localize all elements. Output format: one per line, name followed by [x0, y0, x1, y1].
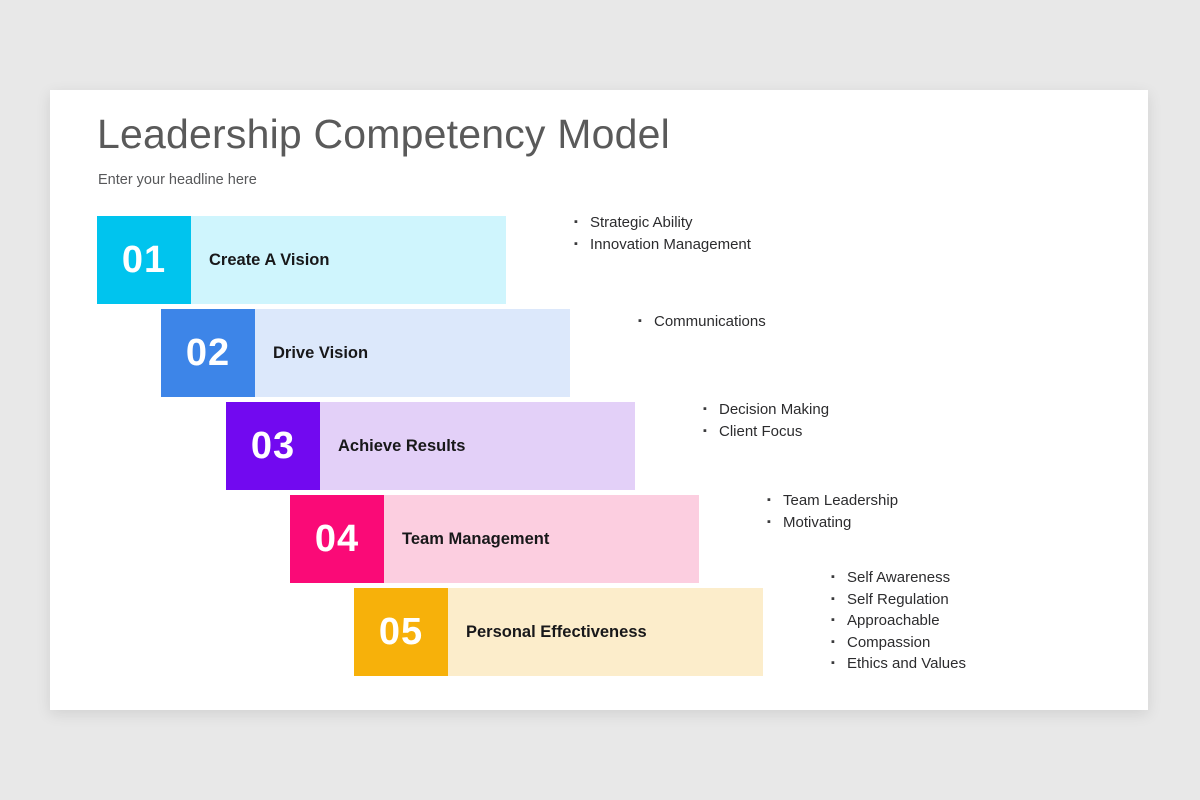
- list-item: ▪ Self Awareness: [831, 567, 966, 589]
- step-bullet-list: ▪ Decision Making ▪ Client Focus: [703, 399, 829, 442]
- step-bullet-list: ▪ Team Leadership ▪ Motivating: [767, 490, 898, 533]
- step-label-box: Personal Effectiveness: [448, 588, 763, 676]
- step-label: Team Management: [402, 530, 549, 549]
- list-item: ▪ Client Focus: [703, 421, 829, 443]
- list-item-label: Self Regulation: [847, 589, 949, 611]
- list-item-label: Decision Making: [719, 399, 829, 421]
- step-label: Create A Vision: [209, 251, 329, 270]
- step-label-box: Create A Vision: [191, 216, 506, 304]
- step-bar[interactable]: 04 Team Management: [290, 495, 699, 583]
- list-item: ▪ Approachable: [831, 610, 966, 632]
- step-number: 05: [379, 611, 423, 654]
- list-item: ▪ Decision Making: [703, 399, 829, 421]
- square-bullet-icon: ▪: [767, 490, 783, 512]
- list-item: ▪ Self Regulation: [831, 589, 966, 611]
- step-number: 03: [251, 425, 295, 468]
- page-title: Leadership Competency Model: [97, 111, 670, 158]
- list-item-label: Compassion: [847, 632, 930, 654]
- list-item: ▪ Compassion: [831, 632, 966, 654]
- list-item-label: Approachable: [847, 610, 940, 632]
- square-bullet-icon: ▪: [831, 653, 847, 675]
- step-number-box: 04: [290, 495, 384, 583]
- step-bar[interactable]: 02 Drive Vision: [161, 309, 570, 397]
- list-item-label: Innovation Management: [590, 234, 751, 256]
- step-number-box: 02: [161, 309, 255, 397]
- list-item: ▪ Motivating: [767, 512, 898, 534]
- step-label: Drive Vision: [273, 344, 368, 363]
- step-bullet-list: ▪ Strategic Ability ▪ Innovation Managem…: [574, 212, 751, 255]
- list-item-label: Strategic Ability: [590, 212, 693, 234]
- step-label-box: Achieve Results: [320, 402, 635, 490]
- square-bullet-icon: ▪: [638, 311, 654, 333]
- step-number-box: 03: [226, 402, 320, 490]
- list-item: ▪ Strategic Ability: [574, 212, 751, 234]
- square-bullet-icon: ▪: [831, 567, 847, 589]
- step-bullet-list: ▪ Self Awareness ▪ Self Regulation ▪ App…: [831, 567, 966, 675]
- square-bullet-icon: ▪: [767, 512, 783, 534]
- square-bullet-icon: ▪: [703, 399, 719, 421]
- page-subtitle: Enter your headline here: [98, 172, 257, 188]
- step-bar[interactable]: 03 Achieve Results: [226, 402, 635, 490]
- list-item-label: Communications: [654, 311, 766, 333]
- list-item-label: Team Leadership: [783, 490, 898, 512]
- step-number: 02: [186, 332, 230, 375]
- square-bullet-icon: ▪: [831, 632, 847, 654]
- list-item: ▪ Team Leadership: [767, 490, 898, 512]
- square-bullet-icon: ▪: [574, 234, 590, 256]
- step-number-box: 01: [97, 216, 191, 304]
- step-number: 01: [122, 239, 166, 282]
- square-bullet-icon: ▪: [703, 421, 719, 443]
- list-item-label: Ethics and Values: [847, 653, 966, 675]
- step-bullet-list: ▪ Communications: [638, 311, 766, 333]
- step-label: Achieve Results: [338, 437, 465, 456]
- step-bar[interactable]: 01 Create A Vision: [97, 216, 506, 304]
- step-label-box: Drive Vision: [255, 309, 570, 397]
- square-bullet-icon: ▪: [574, 212, 590, 234]
- square-bullet-icon: ▪: [831, 610, 847, 632]
- list-item-label: Self Awareness: [847, 567, 950, 589]
- step-number: 04: [315, 518, 359, 561]
- step-label: Personal Effectiveness: [466, 623, 647, 642]
- square-bullet-icon: ▪: [831, 589, 847, 611]
- list-item: ▪ Innovation Management: [574, 234, 751, 256]
- step-label-box: Team Management: [384, 495, 699, 583]
- list-item: ▪ Ethics and Values: [831, 653, 966, 675]
- step-bar[interactable]: 05 Personal Effectiveness: [354, 588, 763, 676]
- list-item-label: Motivating: [783, 512, 851, 534]
- list-item-label: Client Focus: [719, 421, 802, 443]
- slide-card: Leadership Competency Model Enter your h…: [50, 90, 1148, 710]
- step-number-box: 05: [354, 588, 448, 676]
- list-item: ▪ Communications: [638, 311, 766, 333]
